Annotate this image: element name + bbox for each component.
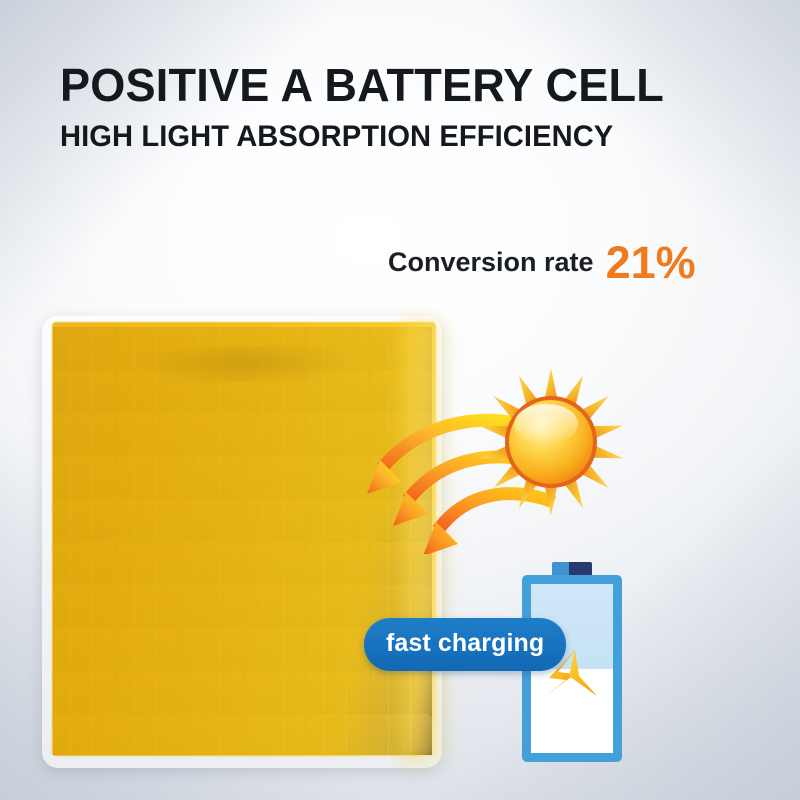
solar-cell-row [53,327,432,368]
solar-cell [307,585,369,626]
solar-cell [244,499,306,540]
solar-cell [244,628,306,669]
fast-charging-badge[interactable]: fast charging [364,618,566,671]
solar-cell [53,499,115,540]
solar-cell [180,714,242,755]
solar-cell [307,714,369,755]
solar-cell [371,671,433,712]
solar-cell [244,327,306,368]
solar-cell [53,413,115,454]
solar-cell [307,628,369,669]
solar-cell [117,585,179,626]
solar-cell [53,628,115,669]
solar-cell [117,413,179,454]
conversion-rate-value: 21% [606,240,696,285]
solar-cell [307,327,369,368]
battery-terminal-cap [552,562,592,575]
solar-cell [307,671,369,712]
solar-cell-row [53,714,432,755]
banner-canvas: POSITIVE A BATTERY CELL HIGH LIGHT ABSOR… [0,0,800,800]
solar-cell [53,456,115,497]
conversion-rate-callout: Conversion rate 21% [388,240,696,285]
solar-cell [53,714,115,755]
solar-cell [371,327,433,368]
solar-cell [244,456,306,497]
solar-cell [244,370,306,411]
sun-icon [476,362,626,522]
solar-cell [180,499,242,540]
solar-cell [371,714,433,755]
solar-cell [117,714,179,755]
solar-cell [180,542,242,583]
solar-cell [180,585,242,626]
solar-cell [53,370,115,411]
solar-cell [180,413,242,454]
solar-cell [180,327,242,368]
solar-cell [117,499,179,540]
solar-cell [244,714,306,755]
solar-cell [117,456,179,497]
solar-cell [117,542,179,583]
solar-cell [117,327,179,368]
solar-cell [117,628,179,669]
solar-cell [244,413,306,454]
solar-cell [180,628,242,669]
solar-cell [180,671,242,712]
conversion-rate-label: Conversion rate [388,247,594,278]
solar-cell [244,585,306,626]
solar-cell [117,370,179,411]
solar-cell [117,671,179,712]
solar-cell [53,585,115,626]
solar-cell [244,542,306,583]
solar-cell-row [53,671,432,712]
solar-cell [180,370,242,411]
solar-cell-row [53,585,432,626]
solar-cell [53,327,115,368]
solar-cell [244,671,306,712]
page-title: POSITIVE A BATTERY CELL [60,58,664,112]
solar-cell [53,671,115,712]
solar-cell [53,542,115,583]
page-subtitle: HIGH LIGHT ABSORPTION EFFICIENCY [60,120,613,154]
solar-cell [180,456,242,497]
